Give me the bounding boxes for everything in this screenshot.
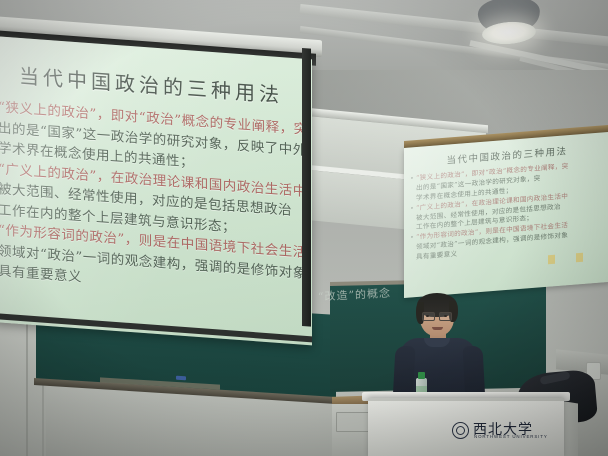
chalk-piece [176, 376, 186, 381]
main-slide: 当代中国政治的三种用法 “狭义上的政治”，即对“政治”概念的专业阐释，突出的是“… [0, 36, 312, 345]
university-logo: 西北大学 NORTHWEST UNIVERSITY [452, 415, 564, 445]
side-table-drawer [336, 412, 372, 432]
door-seam [26, 320, 28, 456]
bottle-cap [418, 372, 425, 379]
lecturer [392, 296, 488, 404]
secondary-projection-screen: 当代中国政治的三种用法 •“狭义上的政治”，即对“政治”概念的专业阐释，突出的是… [404, 132, 608, 298]
main-screen-side-frame [302, 48, 311, 327]
sticky-note [576, 253, 583, 263]
pendant-lamp-icon [476, 0, 546, 50]
podium: 西北大学 NORTHWEST UNIVERSITY [368, 398, 564, 456]
main-slide-body: “狭义上的政治”，即对“政治”概念的专业阐释，突出的是“国家”这一政治学的研究对… [0, 97, 304, 304]
classroom-photo: “改造”的概念 当代中国政治的三种用法 •“狭义上的政治”，即对“政治”概念的专… [0, 0, 608, 456]
university-name-en: NORTHWEST UNIVERSITY [474, 434, 548, 439]
main-projection-screen: 当代中国政治的三种用法 “狭义上的政治”，即对“政治”概念的专业阐释，突出的是“… [0, 36, 312, 345]
sticky-note [548, 255, 555, 265]
university-seal-icon [452, 422, 469, 439]
lecturer-eye [444, 315, 447, 317]
screen-sheen [404, 132, 608, 298]
lecturer-mouth [432, 327, 443, 330]
lecturer-eye [426, 315, 429, 317]
